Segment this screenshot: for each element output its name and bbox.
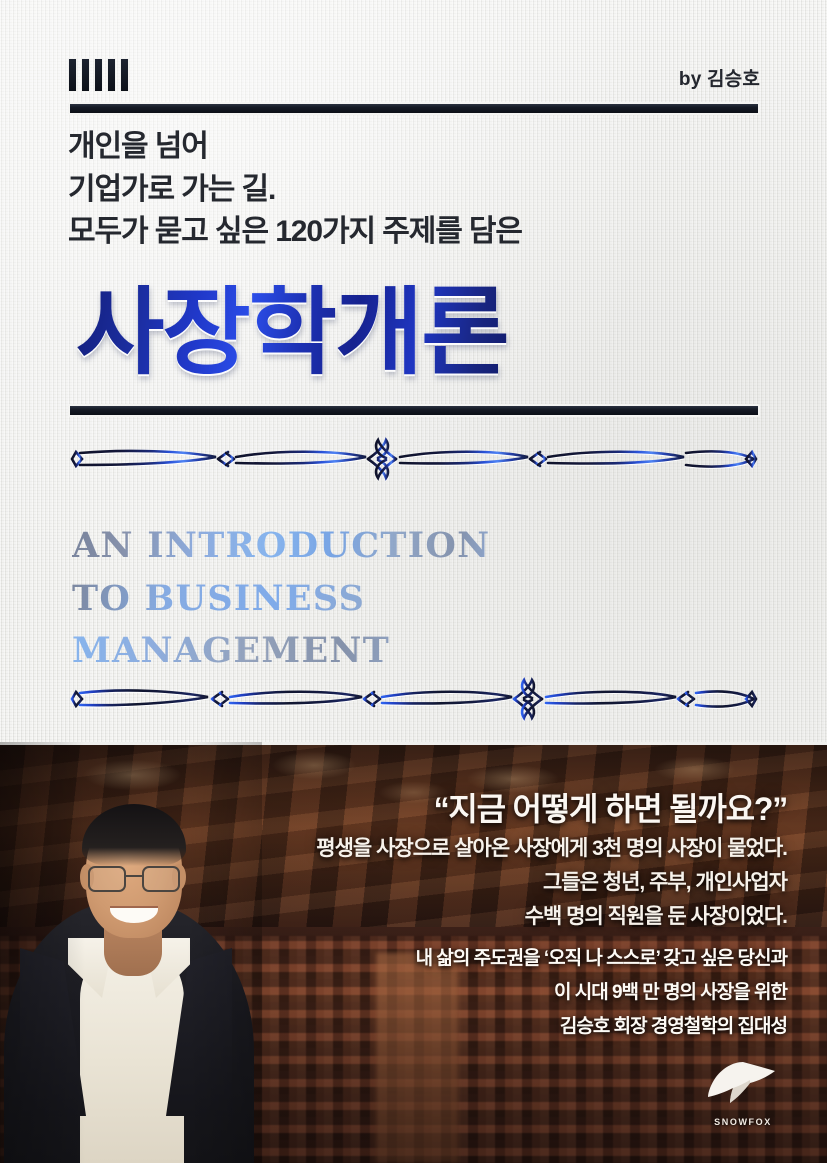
pitch-line-2: 이 시대 9백 만 명의 사장을 위한 [416, 976, 787, 1010]
rule-top [68, 102, 760, 115]
english-title-line-3: MANAGEMENT [72, 625, 592, 678]
glasses-lens-right [142, 866, 180, 892]
glasses-lens-left [88, 866, 126, 892]
quote-body-line-3: 수백 명의 직원을 둔 사장이었다. [316, 900, 787, 934]
glasses-bridge [126, 875, 142, 877]
bar-mark-decoration [68, 58, 760, 94]
subtitle-block: 개인을 넘어 기업가로 가는 길. 모두가 묻고 싶은 120가지 주제를 담은 [68, 126, 768, 254]
snowfox-icon [703, 1059, 783, 1105]
subtitle-line-3: 모두가 묻고 싶은 120가지 주제를 담은 [68, 211, 768, 254]
english-title-block: AN INTRODUCTION TO BUSINESS MANAGEMENT [72, 520, 592, 678]
bar-mark-stripe [81, 58, 90, 92]
english-title-line-1: AN INTRODUCTION [72, 520, 592, 573]
bar-mark-stripe [120, 58, 129, 92]
quote-body-line-2: 그들은 청년, 주부, 개인사업자 [316, 866, 787, 900]
subtitle-line-1: 개인을 넘어 [68, 126, 768, 169]
ornament-divider-top [66, 432, 762, 486]
portrait-hair [82, 804, 186, 866]
main-title: 사장학개론 [76, 285, 508, 381]
bar-mark-stripe [107, 58, 116, 92]
book-cover: by 김승호 개인을 넘어 기업가로 가는 길. 모두가 묻고 싶은 120가지… [0, 0, 827, 1163]
quote-body-line-1: 평생을 사장으로 살아온 사장에게 3천 명의 사장이 물었다. [316, 832, 787, 866]
english-title-line-2: TO BUSINESS [72, 573, 592, 626]
cover-header-row: by 김승호 [68, 58, 760, 98]
bar-mark-stripe [94, 58, 103, 92]
bar-mark-stripe [68, 58, 77, 92]
pitch-line-3: 김승호 회장 경영철학의 집대성 [416, 1010, 787, 1044]
rule-middle [68, 404, 760, 417]
pitch-block: 내 삶의 주도권을 ‘오직 나 스스로’ 갖고 싶은 당신과 이 시대 9백 만… [416, 942, 787, 1043]
ornament-divider-bottom [66, 672, 762, 726]
publisher-name: SNOWFOX [695, 1117, 791, 1127]
glasses-icon [86, 866, 182, 892]
subtitle-line-2: 기업가로 가는 길. [68, 169, 768, 212]
quote-body-block: 평생을 사장으로 살아온 사장에게 3천 명의 사장이 물었다. 그들은 청년,… [316, 832, 787, 934]
author-portrait [0, 742, 262, 1163]
author-credit: by 김승호 [679, 64, 760, 91]
quote-headline: “지금 어떻게 하면 될까요?” [434, 784, 787, 830]
pitch-line-1: 내 삶의 주도권을 ‘오직 나 스스로’ 갖고 싶은 당신과 [416, 942, 787, 976]
publisher-logo: SNOWFOX [695, 1059, 791, 1129]
